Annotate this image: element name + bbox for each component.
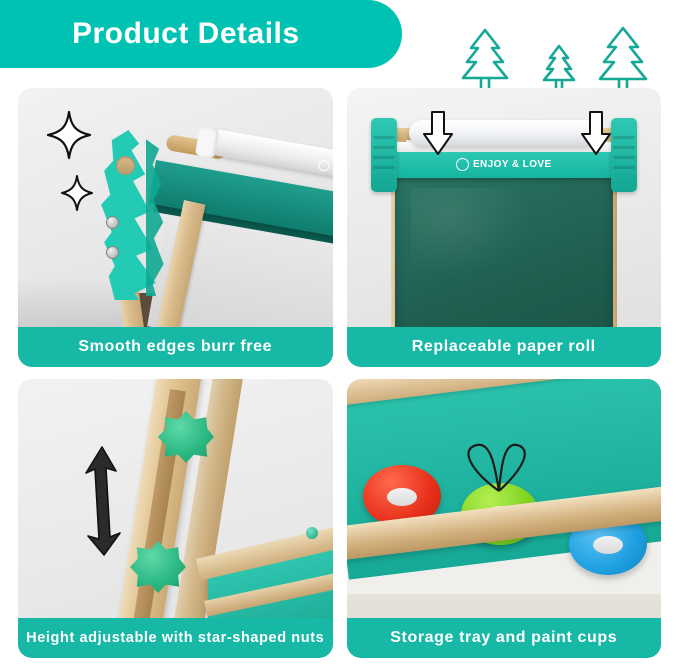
- panel-storage-tray-photo: [347, 379, 662, 658]
- pine-tree-icon: [455, 22, 665, 94]
- arrow-down-icon-left: [421, 110, 455, 156]
- roll-clamp-left: [371, 118, 397, 192]
- bracket-hole: [116, 156, 135, 175]
- pine-tree-decoration-group: [455, 22, 665, 94]
- sparkle-icon-large: [46, 110, 92, 160]
- panel-smooth-edges-photo: ENJOY & LOVE: [18, 88, 333, 367]
- panel-caption-smooth-edges: Smooth edges burr free: [18, 327, 333, 367]
- brand-logo-text: ENJOY & LOVE: [473, 159, 552, 170]
- panel-storage-tray[interactable]: Storage tray and paint cups: [347, 379, 662, 658]
- screw-upper: [106, 216, 119, 229]
- header-banner: Product Details: [0, 0, 402, 68]
- double-headed-arrow-icon: [80, 441, 126, 561]
- screw-lower: [106, 246, 119, 259]
- star-knob-lower[interactable]: [130, 541, 186, 593]
- feature-panel-grid: ENJOY & LOVE Smooth edges burr free: [18, 88, 661, 658]
- brand-logo-mark: [318, 159, 331, 172]
- panel-caption-paper-roll: Replaceable paper roll: [347, 327, 662, 367]
- panel-height-adjustable[interactable]: Height adjustable with star-shaped nuts: [18, 379, 333, 658]
- arrow-down-icon-right: [579, 110, 613, 156]
- star-knob-upper[interactable]: [158, 411, 214, 463]
- roll-clamp-right: [611, 118, 637, 192]
- brand-logo-board: ENJOY & LOVE: [456, 158, 552, 171]
- sparkle-icon-small: [60, 174, 94, 212]
- panel-caption-height-adjustable: Height adjustable with star-shaped nuts: [18, 618, 333, 658]
- panel-smooth-edges[interactable]: ENJOY & LOVE Smooth edges burr free: [18, 88, 333, 367]
- page-title: Product Details: [72, 17, 300, 51]
- panel-paper-roll-photo: ENJOY & LOVE: [347, 88, 662, 367]
- tray-screw: [306, 527, 318, 539]
- cup-loop-string-icon: [451, 441, 547, 493]
- panel-height-adjustable-photo: [18, 379, 333, 658]
- brand-logo-mark: [456, 158, 469, 171]
- panel-caption-storage-tray: Storage tray and paint cups: [347, 618, 662, 658]
- panel-paper-roll[interactable]: ENJOY & LOVE Replaceable paper rol: [347, 88, 662, 367]
